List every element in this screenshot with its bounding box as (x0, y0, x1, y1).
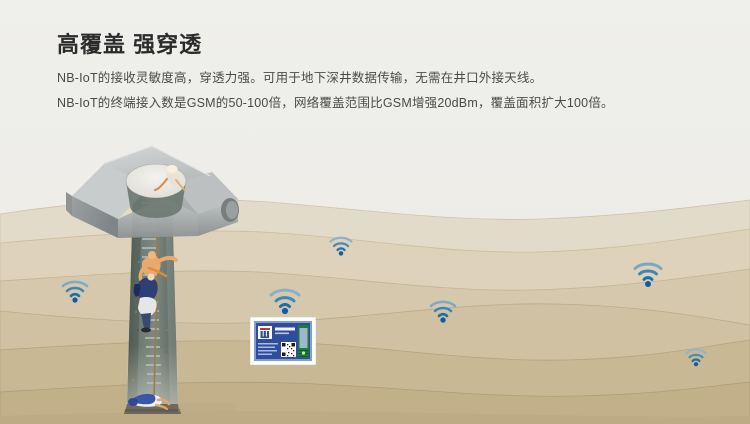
page-title: 高覆盖 强穿透 (57, 33, 717, 57)
promo-banner: 高覆盖 强穿透 NB-IoT的接收灵敏度高，穿透力强。可用于地下深井数据传输，无… (0, 0, 750, 424)
wifi-signal-right-upper-icon (632, 262, 664, 288)
body-paragraph-1: NB-IoT的接收灵敏度高，穿透力强。可用于地下深井数据传输，无需在井口外接天线… (57, 71, 717, 87)
wifi-signal-card-icon (268, 288, 302, 315)
wifi-signal-left-icon (60, 280, 90, 304)
wifi-signal-center-icon (428, 300, 458, 324)
text-block: 高覆盖 强穿透 NB-IoT的接收灵敏度高，穿透力强。可用于地下深井数据传输，无… (57, 33, 717, 120)
wifi-signal-right-lower-icon (684, 348, 708, 368)
body-paragraph-2: NB-IoT的终端接入数是GSM的50-100倍，网络覆盖范围比GSM增强20d… (57, 96, 717, 112)
nbiot-module-card (250, 317, 316, 365)
wifi-signal-upper-mid-icon (328, 236, 354, 257)
